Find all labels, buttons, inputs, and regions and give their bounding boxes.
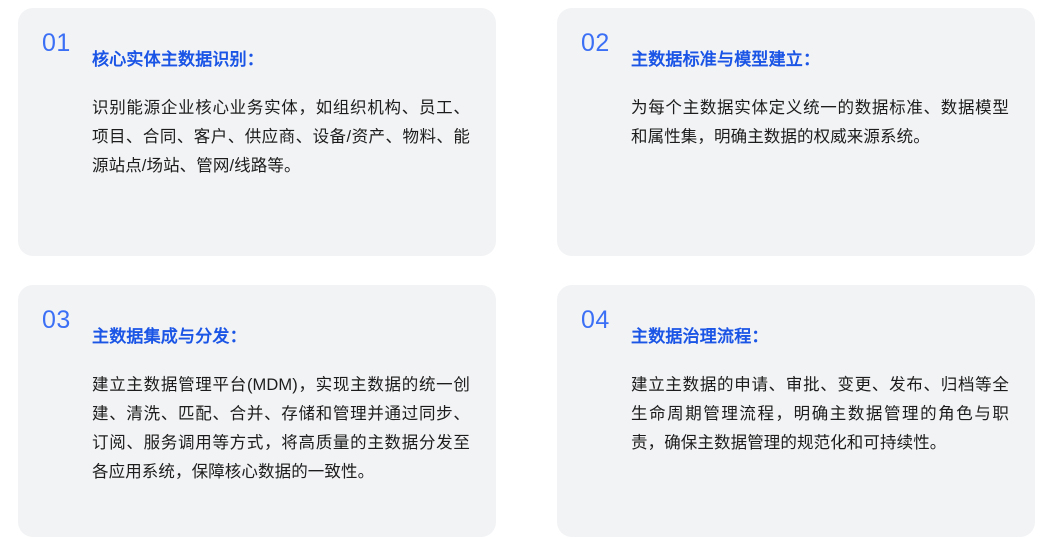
card-03-title: 主数据集成与分发：: [92, 324, 470, 350]
card-02-title: 主数据标准与模型建立：: [631, 47, 1009, 73]
card-02-body: 为每个主数据实体定义统一的数据标准、数据模型和属性集，明确主数据的权威来源系统。: [581, 94, 1009, 152]
card-03: 03 主数据集成与分发： 建立主数据管理平台(MDM)，实现主数据的统一创建、清…: [18, 285, 496, 537]
card-03-header: 03 主数据集成与分发：: [42, 307, 470, 367]
card-02: 02 主数据标准与模型建立： 为每个主数据实体定义统一的数据标准、数据模型和属性…: [557, 8, 1035, 256]
card-02-number: 02: [581, 30, 617, 56]
card-04-number: 04: [581, 307, 617, 333]
card-03-body: 建立主数据管理平台(MDM)，实现主数据的统一创建、清洗、匹配、合并、存储和管理…: [42, 371, 470, 487]
card-01-title: 核心实体主数据识别：: [92, 47, 470, 73]
card-02-header: 02 主数据标准与模型建立：: [581, 30, 1009, 90]
card-01-body: 识别能源企业核心业务实体，如组织机构、员工、项目、合同、客户、供应商、设备/资产…: [42, 94, 470, 181]
card-04-title: 主数据治理流程：: [631, 324, 1009, 350]
card-04: 04 主数据治理流程： 建立主数据的申请、审批、变更、发布、归档等全生命周期管理…: [557, 285, 1035, 537]
card-01-header: 01 核心实体主数据识别：: [42, 30, 470, 90]
card-04-header: 04 主数据治理流程：: [581, 307, 1009, 367]
card-01: 01 核心实体主数据识别： 识别能源企业核心业务实体，如组织机构、员工、项目、合…: [18, 8, 496, 256]
cards-grid: 01 核心实体主数据识别： 识别能源企业核心业务实体，如组织机构、员工、项目、合…: [0, 0, 1053, 552]
card-03-number: 03: [42, 307, 78, 333]
card-04-body: 建立主数据的申请、审批、变更、发布、归档等全生命周期管理流程，明确主数据管理的角…: [581, 371, 1009, 458]
card-01-number: 01: [42, 30, 78, 56]
